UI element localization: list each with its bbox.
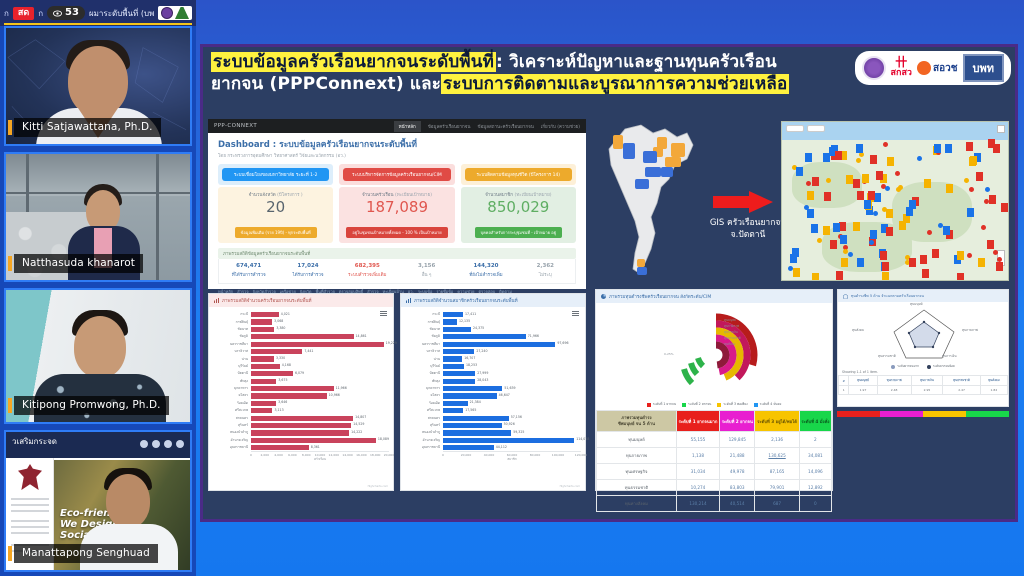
capital-card-title: ภาพรวมทุนดำรงชีพครัวเรือนยากจน สังกัดระด… [596, 290, 832, 303]
bar-label: ศรีสะเกษ [211, 408, 251, 413]
map-pin[interactable] [830, 240, 837, 249]
map-pin[interactable] [841, 258, 848, 267]
map-pin[interactable] [989, 195, 996, 204]
eye-icon [53, 10, 62, 17]
table-cell-value: 1,138 [676, 448, 719, 464]
bar-track: 3,068 [251, 319, 389, 324]
bar-value: 50,926 [502, 422, 515, 426]
map-pin[interactable] [920, 255, 927, 264]
nav-item-2[interactable]: ข้อมูลสถานะครัวเรือนยากจน [478, 123, 534, 130]
bar-track: 12,135 [443, 319, 581, 324]
bar[interactable] [443, 334, 526, 339]
axis-tick: 100,000 [552, 453, 564, 457]
pill-wrap-2: ระบบติดตามข้อมูลทุนชีวิต (ปีโครงการ 14) [461, 164, 576, 185]
map-pin[interactable] [880, 251, 887, 260]
bar[interactable] [443, 364, 464, 369]
kpi-button-1[interactable]: อยู่ในชุมชนเป้าหมายทั้งหมด - 100 % เป็นเ… [346, 227, 447, 238]
chart-body-households: กระบี่4,021กาฬสินธุ์3,068ชัยนาท3,380ชัยภ… [209, 307, 393, 483]
bar[interactable] [443, 349, 474, 354]
participant-video-column: Kitti Satjawattana, Ph.D. Natthasuda kha… [0, 0, 196, 576]
fullscreen-icon[interactable] [997, 125, 1005, 133]
bar-value: 21,384 [468, 400, 481, 404]
map-pin[interactable] [857, 191, 864, 200]
map-pin[interactable] [862, 174, 869, 183]
summary-cell-4: 144,320ที่ยังไม่สำรวจเพิ่ม [456, 263, 515, 278]
table-row: ทุนกายภาพ1,13821,488130,62534,081 [597, 448, 832, 464]
map-pin[interactable] [1001, 203, 1008, 212]
pill-wrap-0: ระบบเชื่อมโยงของมหาวิทยาลัย ระยะที่ 1-2 [218, 164, 333, 185]
radar-axis-1: ทุนกายภาพ [962, 328, 978, 333]
capital-table-header-row: ภาพรวมทุนดำรงชีพมนุษย์ จน 5 ด้าน ระดับที… [597, 411, 832, 432]
map-pin[interactable] [966, 142, 973, 151]
dashboard-brand: PPP-CONNEXT [214, 123, 257, 129]
radar-table-header: ทุนกายภาพ [877, 376, 911, 386]
live-mid: ก [38, 7, 43, 20]
bar[interactable] [443, 416, 509, 421]
radar-axis-0: ทุนมนุษย์ [910, 302, 923, 307]
bar-value: 57,156 [509, 415, 522, 419]
bar-track: 4,168 [251, 364, 389, 369]
table-cell-name: ทุนมนุษย์ [597, 432, 677, 448]
map-pin[interactable] [922, 269, 929, 278]
map-pin[interactable] [807, 191, 814, 200]
radar-table-header: ทุนสังคม [980, 376, 1007, 386]
map-pin[interactable] [840, 235, 847, 244]
kpi-value-0: 20 [220, 199, 331, 216]
map-pin[interactable] [817, 238, 822, 243]
map-pin[interactable] [870, 155, 877, 164]
bar-row: ร้อยเอ็ด3,646 [211, 400, 389, 407]
bar-value: 51,639 [502, 386, 515, 390]
bar[interactable] [443, 356, 462, 361]
cam4-face [106, 474, 150, 528]
bar-track: 14,222 [251, 430, 389, 435]
x-axis-members: 020,00040,00060,00080,000100,000120,000ส… [443, 451, 581, 461]
bar-label: บุรีรัมย์ [403, 364, 443, 369]
dashboard-nav-items: หน้าหลัก ข้อมูลครัวเรือนยากจน ข้อมูลสถาน… [394, 121, 580, 132]
bar-chart-icon [214, 298, 219, 303]
bar-label: นราธิวาส [403, 349, 443, 354]
radar-table-header: ทุนการเงิน [911, 376, 943, 386]
radar-chart-icon [843, 294, 848, 299]
map-pin[interactable] [946, 184, 953, 193]
table-cell-value: 14,096 [799, 464, 831, 480]
seal-icon [161, 7, 173, 19]
bar[interactable] [251, 393, 327, 398]
summary-cell-2: 682,395ระบบสำรวจเพิ่มเติม [338, 263, 397, 278]
participant-name-1: Kitti Satjawattana, Ph.D. [14, 118, 161, 137]
bar-label: กระบี่ [403, 312, 443, 317]
bar-row: มุกดาหาร11,966 [211, 385, 389, 392]
bar-label: ศรีสะเกษ [403, 408, 443, 413]
bar-row: ยโสธร46,647 [403, 392, 581, 399]
map-pin[interactable] [848, 252, 853, 257]
bar[interactable] [443, 423, 502, 428]
slide-body: PPP-CONNEXT หน้าหลัก ข้อมูลครัวเรือนยากจ… [203, 119, 1015, 521]
map-pin[interactable] [856, 144, 863, 153]
dashboard-subheading: โดย กระทรวงการอุดมศึกษา วิทยาศาสตร์ วิจั… [218, 152, 576, 159]
bar-row: น่าน16,707 [403, 355, 581, 362]
map-pin[interactable] [957, 273, 964, 281]
radar-table-cell: 1.97 [849, 386, 877, 395]
bar-row: กาฬสินธุ์3,068 [211, 318, 389, 325]
cam1-face [68, 46, 128, 116]
map-pin[interactable] [805, 153, 812, 162]
axis-label: ครัวเรือน [314, 457, 326, 462]
table-row: ทุนธรรมชาติ10,27483,80379,90112,892 [597, 480, 832, 496]
radar-table-cell: 1.82 [980, 386, 1007, 395]
map-pin[interactable] [887, 157, 894, 166]
channel-name: ผมาระดับพื้นที่ (บพท.) [89, 7, 154, 20]
radar-card-title: ทุนดำรงชีพ 5 ด้าน จำแนกตามครัวเรือนยากจน [838, 290, 1008, 302]
bar-value: 27,999 [475, 371, 488, 375]
bar[interactable] [443, 379, 475, 384]
map-pin[interactable] [899, 221, 906, 230]
cam3-face [74, 316, 126, 378]
bar-label: ชัยนาท [403, 327, 443, 332]
bar-label: ร้อยเอ็ด [403, 401, 443, 406]
table-cell-value: 2,136 [755, 432, 799, 448]
bar-value: 46,647 [497, 393, 510, 397]
bar-track: 18,089 [251, 438, 389, 443]
radar-axis-2: ทุนการเงิน [942, 354, 957, 359]
radar-table-cell: 1 [839, 386, 849, 395]
map-pin[interactable] [811, 224, 818, 233]
bar-row: สกลนคร57,156 [403, 414, 581, 421]
bar-value: 71,966 [526, 334, 539, 338]
radar-table-cell: 2.48 [877, 386, 911, 395]
kpi-label-1: จำนวนครัวเรือน (ทะเบียนเป้าหมาย) [341, 191, 452, 198]
bar[interactable] [443, 319, 457, 324]
bar[interactable] [251, 430, 349, 435]
bar[interactable] [251, 408, 272, 413]
bar-track: 14,529 [251, 423, 389, 428]
slide-title-rest-1: : วิเคราะห์ปัญหาและฐานทุนครัวเรือน [496, 52, 777, 72]
bar[interactable] [251, 349, 302, 354]
slide-title: ระบบข้อมูลครัวเรือนยากจนระดับพื้นที่: วิ… [203, 47, 1015, 119]
map-pin[interactable] [857, 258, 864, 267]
cam4-doc-title: วเสริมกระจด [12, 435, 57, 448]
map-pin[interactable] [943, 226, 950, 235]
map-pin[interactable] [868, 191, 875, 200]
map-pin[interactable] [945, 144, 952, 153]
bar-track: 6,079 [251, 371, 389, 376]
leaf-icon [175, 7, 189, 19]
table-row: ทุนเศรษฐกิจ31,03449,97887,16514,096 [597, 464, 832, 480]
map-pin[interactable] [934, 144, 941, 153]
bar[interactable] [251, 401, 276, 406]
bar-track: 57,156 [443, 416, 581, 421]
bar[interactable] [251, 445, 309, 450]
bar-track: 21,384 [443, 401, 581, 406]
bar-list-members: กระบี่17,411กาฬสินธุ์12,135ชัยนาท24,375ช… [403, 311, 581, 451]
dashboard-pill-0[interactable]: ระบบเชื่อมโยงของมหาวิทยาลัย ระยะที่ 1-2 [222, 168, 329, 181]
axis-tick: 0 [250, 453, 252, 457]
map-pin[interactable] [993, 144, 1000, 153]
bar[interactable] [443, 430, 511, 435]
bar-label: สุรินทร์ [211, 423, 251, 428]
slide-title-hl-1: ระบบข้อมูลครัวเรือนยากจนระดับพื้นที่ [211, 52, 496, 72]
map-pin[interactable] [886, 209, 893, 218]
bar-track: 46,647 [443, 393, 581, 398]
map-pin[interactable] [909, 200, 916, 209]
bar-row: ชัยภูมิ14,861 [211, 333, 389, 340]
map-pin[interactable] [876, 171, 883, 180]
map-pin[interactable] [987, 240, 994, 249]
map-pin[interactable] [870, 230, 877, 239]
map-pin[interactable] [924, 179, 931, 188]
bar[interactable] [443, 386, 502, 391]
map-pin[interactable] [796, 167, 803, 176]
bar-value: 11,966 [334, 386, 347, 390]
dashboard-kpi-row: จำนวนจังหวัด (ปีโครงการ ) 20 ข้อมูลเพิ่ม… [208, 185, 586, 243]
bar[interactable] [443, 401, 468, 406]
bar-track: 17,411 [443, 312, 581, 317]
map-pin[interactable] [836, 271, 843, 280]
nav-item-1[interactable]: ข้อมูลครัวเรือนยากจน [428, 123, 471, 130]
participant-tile-2[interactable]: Natthasuda khanarot [4, 152, 192, 282]
slide-logo-group: 卄สกสว สอวช บพท [855, 51, 1012, 85]
presentation-slide: ระบบข้อมูลครัวเรือนยากจนระดับพื้นที่: วิ… [200, 44, 1018, 522]
bar[interactable] [251, 319, 272, 324]
bar-track: 3,380 [251, 327, 389, 332]
bar[interactable] [251, 371, 293, 376]
map-pin[interactable] [964, 178, 969, 183]
map-pin[interactable] [957, 251, 964, 260]
participant-tile-3[interactable]: Kitipong Promwong, Ph.D. [4, 288, 192, 424]
axis-tick: 4,000 [274, 453, 283, 457]
table-cell-value: 49,978 [720, 464, 755, 480]
map-pin[interactable] [853, 222, 860, 231]
nav-item-3[interactable]: เกี่ยวกับ (ความช่วย) [541, 123, 580, 130]
map-pin[interactable] [932, 249, 939, 258]
bar-value: 10,966 [327, 393, 340, 397]
bar-track: 17,565 [443, 408, 581, 413]
thailand-map [595, 121, 713, 281]
kpi-card-members: จำนวนสมาชิก (ทะเบียนเป้าหมาย) 850,029 บุ… [461, 187, 576, 243]
bar-value: 3,646 [276, 400, 287, 404]
bar[interactable] [251, 356, 274, 361]
bar-value: 14,807 [353, 415, 366, 419]
map-pin[interactable] [812, 177, 819, 186]
bar-row: นครราชสีมา97,696 [403, 341, 581, 348]
radar-chart: ทุนมนุษย์ ทุนกายภาพ ทุนการเงิน ทุนธรรมชา… [838, 302, 1008, 364]
gis-map[interactable] [781, 121, 1009, 281]
radar-card: ทุนดำรงชีพ 5 ด้าน จำแนกตามครัวเรือนยากจน… [837, 289, 1009, 407]
sovch-logo: สอวช [917, 61, 958, 76]
map-pin[interactable] [824, 192, 831, 201]
axis-tick: 12,000 [329, 453, 340, 457]
axis-tick: 14,000 [342, 453, 353, 457]
table-cell-value: 87,165 [755, 464, 799, 480]
bar-value: 18,253 [464, 363, 477, 367]
map-pin[interactable] [792, 248, 799, 257]
table-row: ทุนทางสังคม130,21440,5146870 [597, 496, 832, 512]
bar[interactable] [443, 393, 497, 398]
bar[interactable] [251, 327, 274, 332]
map-pin[interactable] [788, 266, 793, 271]
table-cell-value: 130,214 [676, 496, 719, 512]
bar-label: สกลนคร [211, 416, 251, 421]
map-pin[interactable] [853, 179, 860, 188]
axis-tick: 0 [442, 453, 444, 457]
bar[interactable] [251, 423, 351, 428]
bar-row: กระบี่4,021 [211, 311, 389, 318]
bar-value: 97,696 [555, 341, 568, 345]
radar-table-body: 11.972.482.952.471.82 [839, 386, 1008, 395]
bar[interactable] [443, 371, 475, 376]
bar-row: อำนาจเจริญ18,089 [211, 437, 389, 444]
kpi-label-0: จำนวนจังหวัด (ปีโครงการ ) [220, 191, 331, 198]
table-cell-value: 2 [799, 432, 831, 448]
cam4-doc-icons [140, 440, 184, 448]
map-pin[interactable] [823, 226, 830, 235]
chart-title-members: ภาพรวมสถิติจำนวนสมาชิกครัวเรือนยากจนระดั… [401, 294, 585, 307]
channel-logos [158, 6, 192, 20]
participant-tile-1[interactable]: Kitti Satjawattana, Ph.D. [4, 26, 192, 146]
legend-item-3: ระดับที่ 4 มั่นคง [754, 402, 782, 407]
map-pin[interactable] [833, 223, 840, 232]
bar-label: น่าน [211, 357, 251, 362]
bar-row: กาฬสินธุ์12,135 [403, 318, 581, 325]
bar-value: 16,707 [462, 356, 475, 360]
bar-track: 16,707 [443, 356, 581, 361]
kpi-value-2: 850,029 [463, 199, 574, 216]
bar-label: นราธิวาส [211, 349, 251, 354]
table-cell-value: 31,034 [676, 464, 719, 480]
summary-cell-1: 17,024ได้รับการสำรวจ [278, 263, 337, 278]
map-pin[interactable] [996, 262, 1003, 271]
map-pin[interactable] [978, 258, 985, 267]
bar[interactable] [251, 334, 354, 339]
bar-label: ชัยนาท [211, 327, 251, 332]
gis-map-tabs[interactable] [786, 125, 825, 132]
bar-row: หนองบัวลำภู14,222 [211, 429, 389, 436]
bar[interactable] [251, 364, 280, 369]
dashboard-summary-row: 674,471ที่ได้รับการสำรวจ 17,024ได้รับการ… [218, 259, 576, 284]
dashboard-pill-1[interactable]: ระบบบริหารจัดการข้อมูลครัวเรือนยากจน/CIM [343, 168, 450, 181]
bar-track: 7,441 [251, 349, 389, 354]
dashboard-pill-row: ระบบเชื่อมโยงของมหาวิทยาลัย ระยะที่ 1-2 … [208, 161, 586, 185]
participant-tile-4[interactable]: วเสริมกระจด Eco-friend We Design Social [4, 430, 192, 572]
map-pin[interactable] [835, 151, 842, 160]
bar[interactable] [443, 445, 494, 450]
bar-row: นครราชสีมา19,229 [211, 341, 389, 348]
bar-value: 114,078 [574, 437, 589, 441]
map-pin[interactable] [886, 227, 893, 236]
participant-name-3: Kitipong Promwong, Ph.D. [14, 396, 169, 415]
table-cell-value: 21,488 [720, 448, 755, 464]
bar-row: น่าน3,330 [211, 355, 389, 362]
map-pin[interactable] [885, 186, 890, 191]
axis-tick: 2,000 [261, 453, 270, 457]
bar-track: 3,330 [251, 356, 389, 361]
bar[interactable] [443, 342, 555, 347]
bar[interactable] [443, 312, 463, 317]
table-cell-value: 40,514 [720, 496, 755, 512]
live-prefix: ก [4, 7, 9, 20]
bar-track: 3,646 [251, 401, 389, 406]
radar-table-cell: 2.47 [943, 386, 980, 395]
bar[interactable] [251, 386, 334, 391]
bar[interactable] [251, 312, 279, 317]
bar-row: สุรินทร์50,926 [403, 422, 581, 429]
map-pin[interactable] [864, 200, 871, 209]
map-pin[interactable] [976, 172, 983, 181]
bar-row: ปัตตานี6,079 [211, 370, 389, 377]
bar-value: 24,375 [471, 326, 484, 330]
bar-row: นราธิวาส27,240 [403, 348, 581, 355]
bar-value: 17,411 [463, 312, 476, 316]
map-pin[interactable] [793, 268, 800, 277]
map-pin[interactable] [981, 225, 986, 230]
kpi-card-households: จำนวนครัวเรือน (ทะเบียนเป้าหมาย) 187,089… [339, 187, 454, 243]
bar[interactable] [251, 438, 376, 443]
bar-track: 11,966 [251, 386, 389, 391]
kpi-card-provinces: จำนวนจังหวัด (ปีโครงการ ) 20 ข้อมูลเพิ่ม… [218, 187, 333, 243]
axis-tick: 16,000 [356, 453, 367, 457]
map-pin[interactable] [812, 273, 819, 281]
bar-value: 17,565 [463, 408, 476, 412]
bar-value: 6,079 [293, 371, 304, 375]
bar-value: 3,068 [272, 319, 283, 323]
bar[interactable] [251, 416, 353, 421]
map-pin[interactable] [882, 272, 889, 281]
bar[interactable] [251, 342, 384, 347]
viewer-count-pill: 53 [47, 6, 85, 20]
kpi-button-2[interactable]: บุคคลสำหรับการระบุชุมชนที่ - เป้าหมาย อย… [475, 227, 562, 238]
bar-track: 8,361 [251, 445, 389, 450]
map-pin[interactable] [909, 258, 916, 267]
bar-track: 19,229 [251, 342, 389, 347]
map-pin[interactable] [969, 157, 976, 166]
bar-track: 44,112 [443, 445, 581, 450]
capital-table: ภาพรวมทุนดำรงชีพมนุษย์ จน 5 ด้าน ระดับที… [596, 410, 832, 512]
bar-label: อุบลราชธานี [403, 445, 443, 450]
kpi-button-0[interactable]: ข้อมูลเพิ่มเติม (ราย 19ปี) - ทุกระดับพื้… [235, 227, 317, 238]
bar-value: 8,361 [309, 445, 320, 449]
dashboard-pill-2[interactable]: ระบบติดตามข้อมูลทุนชีวิต (ปีโครงการ 14) [465, 168, 572, 181]
bar-row: ศรีสะเกษ3,113 [211, 407, 389, 414]
map-pin[interactable] [967, 208, 974, 217]
nav-item-0[interactable]: หน้าหลัก [394, 121, 421, 132]
radar-table-header: # [839, 376, 849, 386]
bar-track: 18,253 [443, 364, 581, 369]
bar[interactable] [443, 327, 471, 332]
bar-value: 59,325 [511, 430, 524, 434]
pie-chart-icon [601, 294, 606, 299]
bar[interactable] [251, 379, 276, 384]
axis-tick: 6,000 [288, 453, 297, 457]
thailand-map-svg [595, 121, 713, 281]
bar-chart-icon [406, 298, 411, 303]
bar-row: กระบี่17,411 [403, 311, 581, 318]
bar-value: 18,089 [376, 437, 389, 441]
bar[interactable] [443, 438, 574, 443]
capital-table-header-0: ระดับที่ 1 ยากจนมาก [676, 411, 719, 432]
bar-track: 3,113 [251, 408, 389, 413]
map-pin[interactable] [882, 262, 889, 271]
color-strip [837, 411, 1009, 417]
map-pin[interactable] [807, 209, 814, 218]
bar[interactable] [443, 408, 463, 413]
summary-cell-0: 674,471ที่ได้รับการสำรวจ [219, 263, 278, 278]
nested-donut-chart: ทุนมนุษย์ทุนกายภาพ ทุนการเงินทุนธรรมชาติ… [654, 305, 774, 401]
summary-cell-3: 3,156อื่น ๆ [397, 263, 456, 278]
bar-label: กระบี่ [211, 312, 251, 317]
bar-value: 44,112 [494, 445, 507, 449]
bar-label: นครราชสีมา [403, 342, 443, 347]
